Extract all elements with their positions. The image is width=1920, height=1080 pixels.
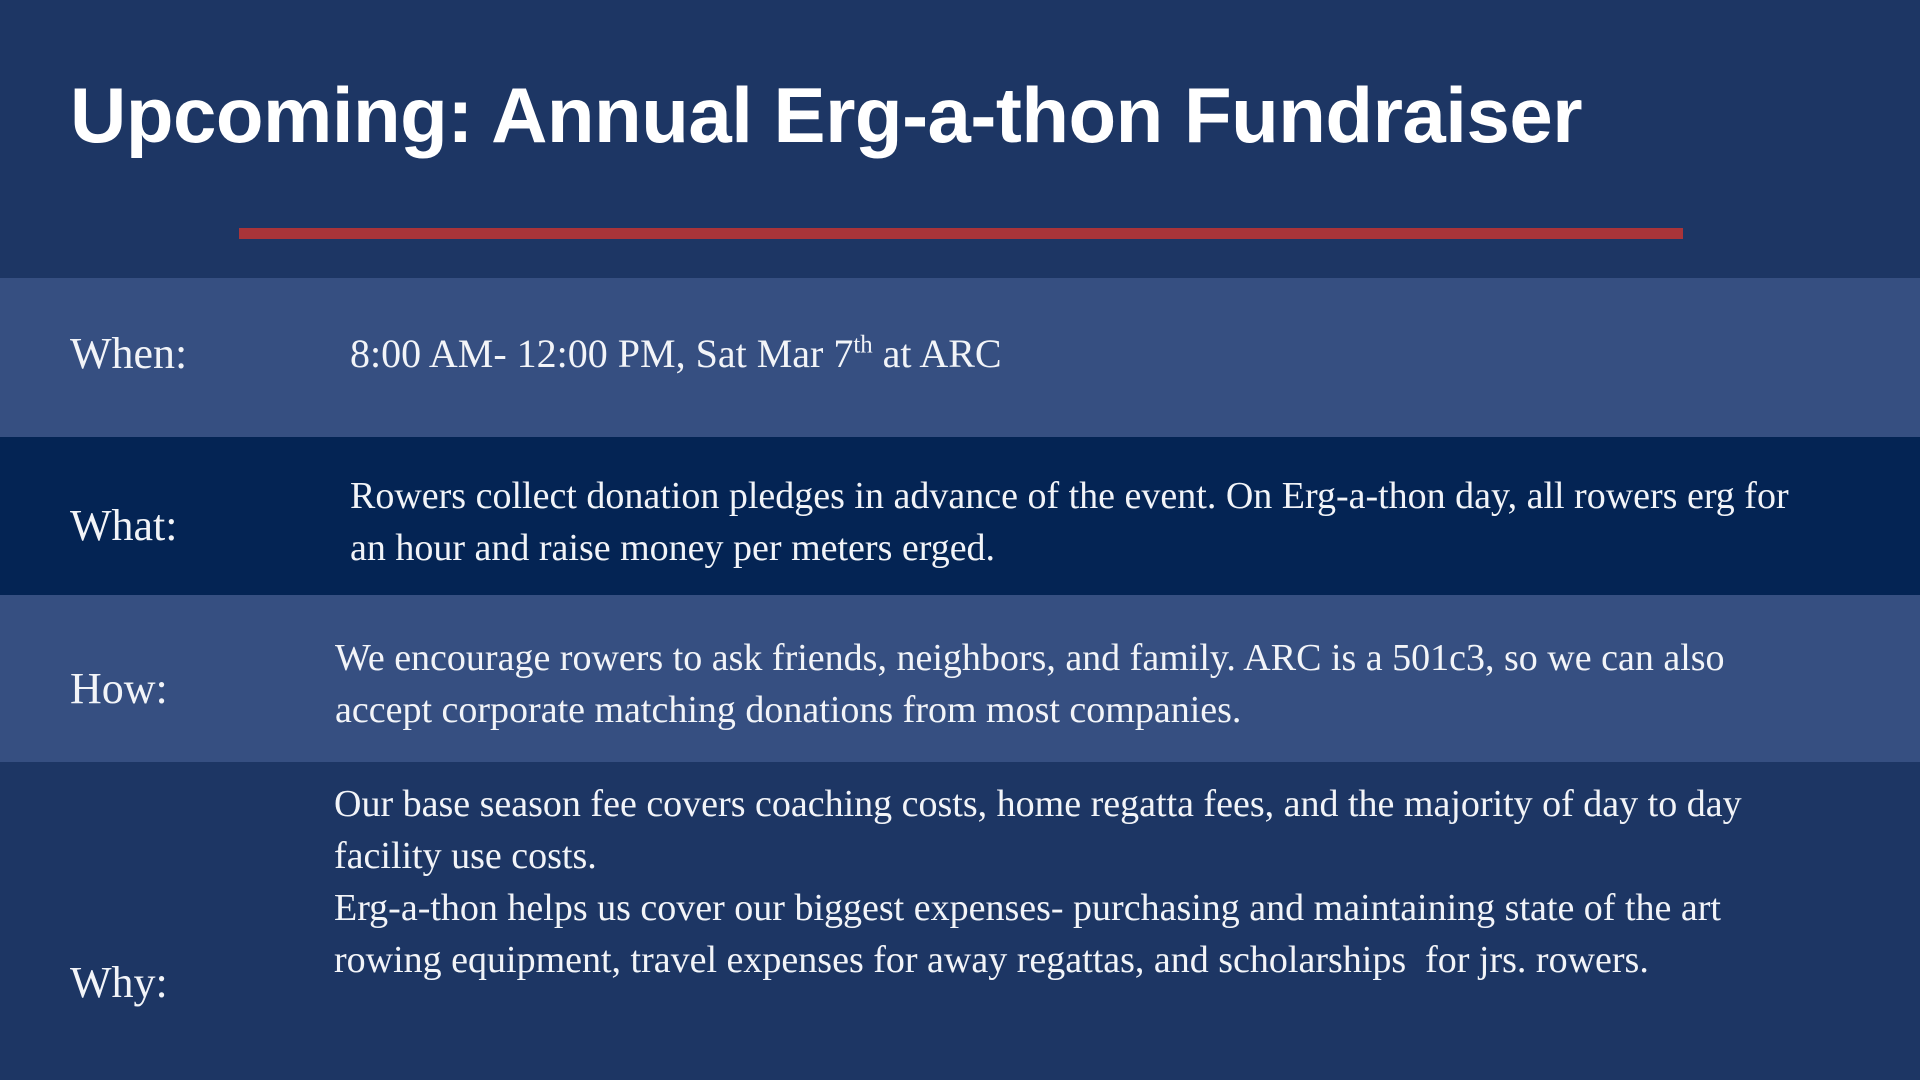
row-label-why: Why: xyxy=(70,957,168,1009)
slide-title: Upcoming: Annual Erg-a-thon Fundraiser xyxy=(70,70,1860,160)
info-row-when: When: 8:00 AM- 12:00 PM, Sat Mar 7th at … xyxy=(0,278,1920,437)
info-row-what: What: Rowers collect donation pledges in… xyxy=(0,437,1920,595)
when-time-text: 8:00 AM- 12:00 PM, Sat Mar 7 xyxy=(350,331,853,376)
info-row-how: How: We encourage rowers to ask friends,… xyxy=(0,595,1920,762)
row-content-when: 8:00 AM- 12:00 PM, Sat Mar 7th at ARC xyxy=(350,328,1002,380)
when-location-text: at ARC xyxy=(873,331,1002,376)
why-paragraph-two: Erg-a-thon helps us cover our biggest ex… xyxy=(334,882,1834,986)
presentation-slide: Upcoming: Annual Erg-a-thon Fundraiser W… xyxy=(0,0,1920,1080)
row-label-how: How: xyxy=(70,663,168,715)
when-ordinal-suffix: th xyxy=(853,332,872,359)
row-content-how: We encourage rowers to ask friends, neig… xyxy=(335,632,1815,736)
why-paragraph-one: Our base season fee covers coaching cost… xyxy=(334,778,1834,882)
info-row-why: Why: Our base season fee covers coaching… xyxy=(0,762,1920,1080)
row-content-what: Rowers collect donation pledges in advan… xyxy=(350,470,1810,574)
row-content-why: Our base season fee covers coaching cost… xyxy=(334,778,1834,986)
row-label-what: What: xyxy=(70,500,178,552)
title-accent-bar xyxy=(239,228,1683,239)
slide-header: Upcoming: Annual Erg-a-thon Fundraiser xyxy=(0,0,1920,278)
row-label-when: When: xyxy=(70,328,187,380)
